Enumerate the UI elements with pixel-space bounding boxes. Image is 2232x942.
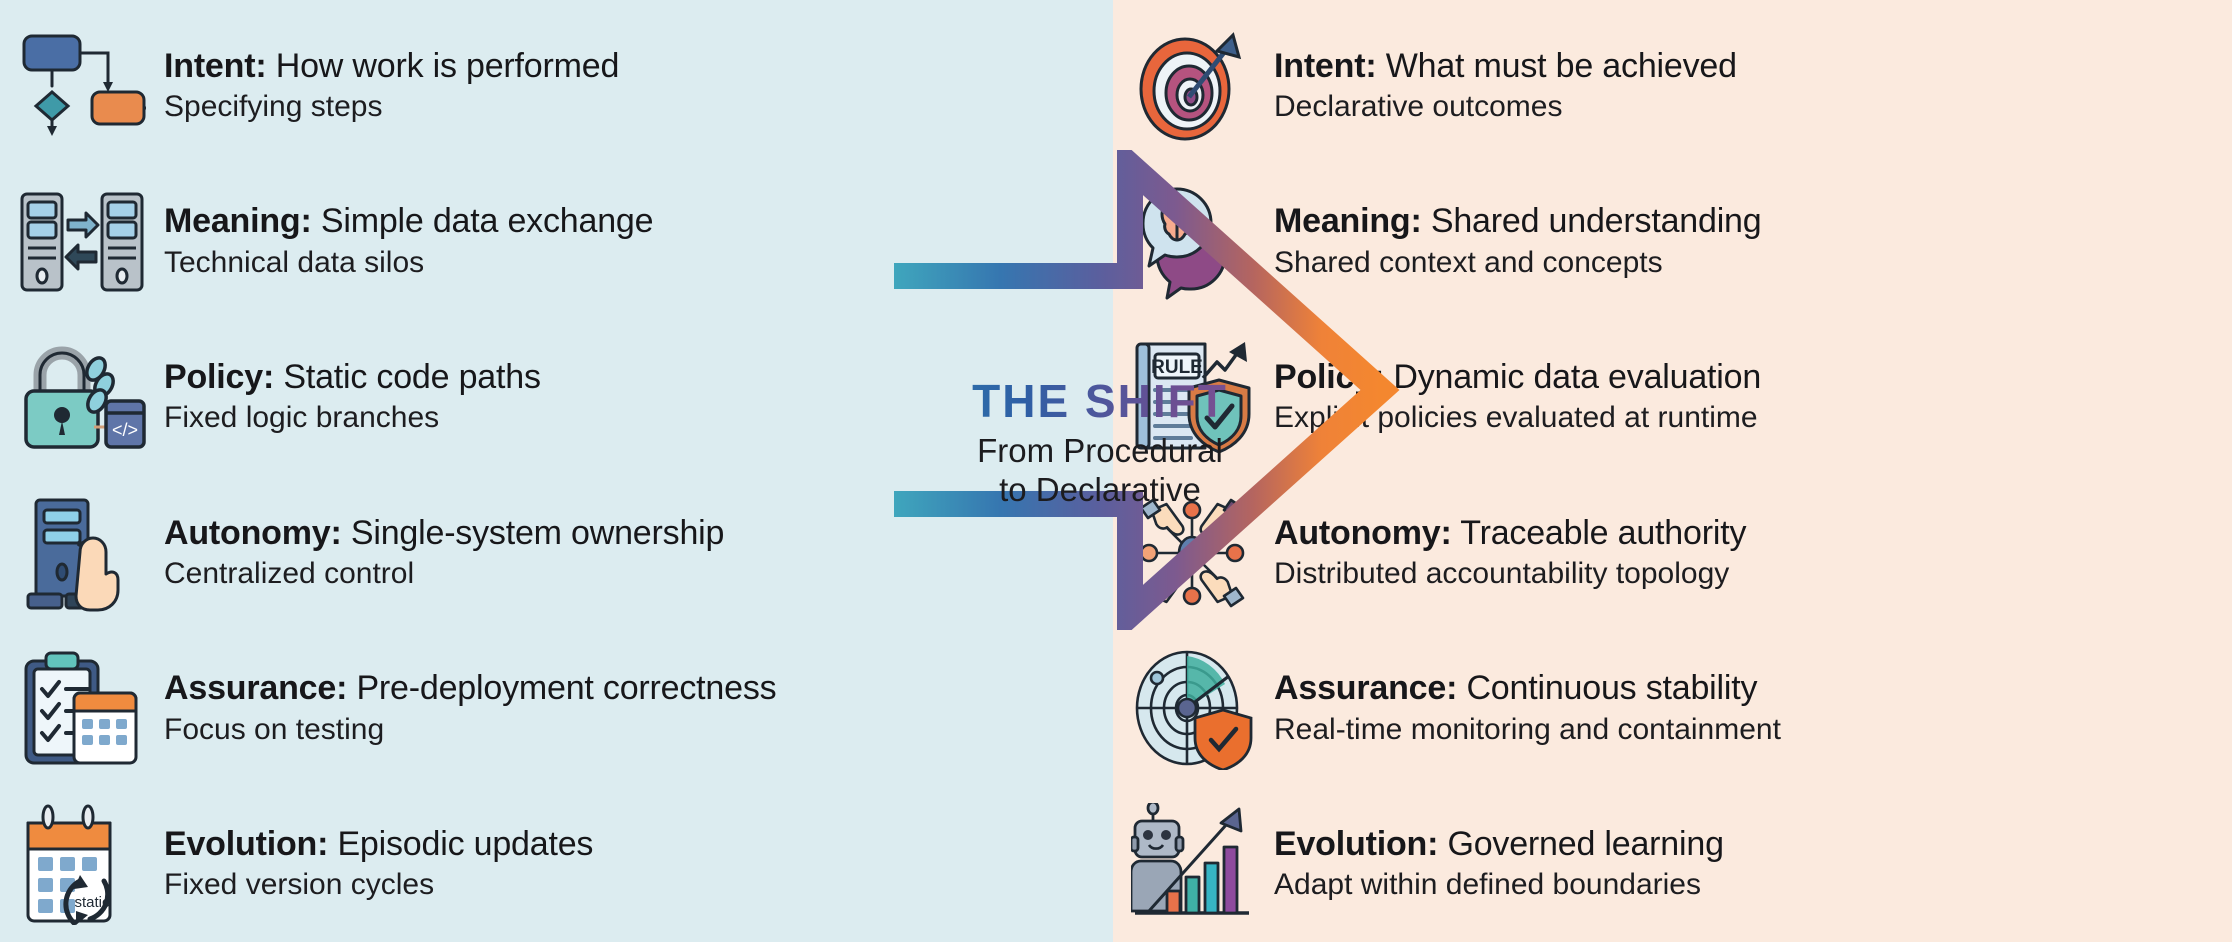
- list-item: Intent: How work is performed Specifying…: [18, 8, 898, 164]
- row-rest: Static code paths: [283, 358, 540, 396]
- row-rest: Traceable authority: [1460, 514, 1746, 552]
- row-text: Meaning: Simple data exchange Technical …: [164, 202, 653, 280]
- svg-text:</>: </>: [112, 420, 138, 440]
- row-rest: Shared understanding: [1431, 202, 1762, 240]
- row-rest: Governed learning: [1447, 825, 1723, 863]
- list-item: static Evolution: Episodic updates Fixed…: [18, 786, 898, 942]
- row-title: Intent: How work is performed: [164, 47, 619, 86]
- list-item: Assurance: Pre-deployment correctness Fo…: [18, 631, 898, 787]
- list-item: Intent: What must be achieved Declarativ…: [1128, 8, 2218, 164]
- row-rest: What must be achieved: [1386, 47, 1737, 85]
- row-text: Evolution: Governed learning Adapt withi…: [1274, 825, 1724, 903]
- robot-growth-chart-icon: [1128, 800, 1256, 928]
- calendar-badge-label: static: [74, 894, 110, 911]
- row-lead: Autonomy:: [164, 514, 342, 552]
- list-item: Evolution: Governed learning Adapt withi…: [1128, 786, 2218, 942]
- list-item: Meaning: Simple data exchange Technical …: [18, 164, 898, 320]
- row-rest: Simple data exchange: [321, 202, 653, 240]
- procedural-column: Intent: How work is performed Specifying…: [18, 0, 898, 942]
- row-title: Policy: Dynamic data evaluation: [1274, 358, 1761, 397]
- row-text: Assurance: Continuous stability Real-tim…: [1274, 669, 1781, 747]
- server-hand-click-icon: [18, 489, 146, 617]
- row-subtitle: Distributed accountability topology: [1274, 556, 1746, 592]
- row-subtitle: Adapt within defined boundaries: [1274, 867, 1724, 903]
- calendar-static-cycle-icon: static: [18, 800, 146, 928]
- row-title: Evolution: Governed learning: [1274, 825, 1724, 864]
- row-lead: Assurance:: [1274, 669, 1457, 707]
- row-text: Policy: Dynamic data evaluation Explicit…: [1274, 358, 1761, 436]
- row-lead: Evolution:: [164, 825, 328, 863]
- row-title: Meaning: Simple data exchange: [164, 202, 653, 241]
- row-subtitle: Centralized control: [164, 556, 724, 592]
- row-lead: Assurance:: [164, 669, 347, 707]
- row-title: Intent: What must be achieved: [1274, 47, 1737, 86]
- row-rest: Single-system ownership: [351, 514, 724, 552]
- row-text: Evolution: Episodic updates Fixed versio…: [164, 825, 593, 903]
- row-rest: Pre-deployment correctness: [356, 669, 776, 707]
- row-lead: Intent:: [1274, 47, 1376, 85]
- row-title: Autonomy: Traceable authority: [1274, 514, 1746, 553]
- two-servers-exchange-icon: [18, 178, 146, 306]
- row-subtitle: Fixed logic branches: [164, 400, 541, 436]
- row-rest: Dynamic data evaluation: [1393, 358, 1761, 396]
- row-rest: How work is performed: [276, 47, 619, 85]
- row-subtitle: Specifying steps: [164, 89, 619, 125]
- row-subtitle: Focus on testing: [164, 712, 776, 748]
- flowchart-icon: [18, 22, 146, 150]
- row-lead: Intent:: [164, 47, 266, 85]
- row-text: Autonomy: Single-system ownership Centra…: [164, 514, 724, 592]
- padlock-chain-code-icon: </>: [18, 333, 146, 461]
- row-lead: Meaning:: [164, 202, 312, 240]
- page-title: THE SHIFT: [880, 378, 1320, 424]
- clipboard-checklist-calendar-icon: [18, 645, 146, 773]
- row-subtitle: Shared context and concepts: [1274, 245, 1761, 281]
- infographic-canvas: Intent: How work is performed Specifying…: [0, 0, 2232, 942]
- row-text: Intent: How work is performed Specifying…: [164, 47, 619, 125]
- row-subtitle: Fixed version cycles: [164, 867, 593, 903]
- list-item: </> Policy: Static code paths Fixed logi…: [18, 319, 898, 475]
- row-text: Policy: Static code paths Fixed logic br…: [164, 358, 541, 436]
- row-text: Assurance: Pre-deployment correctness Fo…: [164, 669, 776, 747]
- list-item: Assurance: Continuous stability Real-tim…: [1128, 631, 2218, 787]
- row-title: Assurance: Pre-deployment correctness: [164, 669, 776, 708]
- row-lead: Meaning:: [1274, 202, 1422, 240]
- row-rest: Episodic updates: [337, 825, 593, 863]
- row-text: Autonomy: Traceable authority Distribute…: [1274, 514, 1746, 592]
- row-rest: Continuous stability: [1466, 669, 1757, 707]
- list-item: Meaning: Shared understanding Shared con…: [1128, 164, 2218, 320]
- shift-subtitle-line-1: From Procedural: [880, 432, 1320, 471]
- shift-subtitle-line-2: to Declarative: [880, 471, 1320, 510]
- row-subtitle: Explicit policies evaluated at runtime: [1274, 400, 1761, 436]
- row-title: Evolution: Episodic updates: [164, 825, 593, 864]
- row-title: Meaning: Shared understanding: [1274, 202, 1761, 241]
- radar-shield-check-icon: [1128, 645, 1256, 773]
- shift-caption: THE SHIFT From Procedural to Declarative: [880, 378, 1320, 510]
- row-subtitle: Declarative outcomes: [1274, 89, 1737, 125]
- list-item: Autonomy: Single-system ownership Centra…: [18, 475, 898, 631]
- row-title: Assurance: Continuous stability: [1274, 669, 1781, 708]
- row-subtitle: Real-time monitoring and containment: [1274, 712, 1781, 748]
- row-text: Intent: What must be achieved Declarativ…: [1274, 47, 1737, 125]
- row-lead: Autonomy:: [1274, 514, 1452, 552]
- row-title: Policy: Static code paths: [164, 358, 541, 397]
- target-arrow-icon: [1128, 22, 1256, 150]
- brain-speech-bubbles-icon: [1128, 178, 1256, 306]
- row-text: Meaning: Shared understanding Shared con…: [1274, 202, 1761, 280]
- row-lead: Evolution:: [1274, 825, 1438, 863]
- row-title: Autonomy: Single-system ownership: [164, 514, 724, 553]
- row-subtitle: Technical data silos: [164, 245, 653, 281]
- row-lead: Policy:: [164, 358, 274, 396]
